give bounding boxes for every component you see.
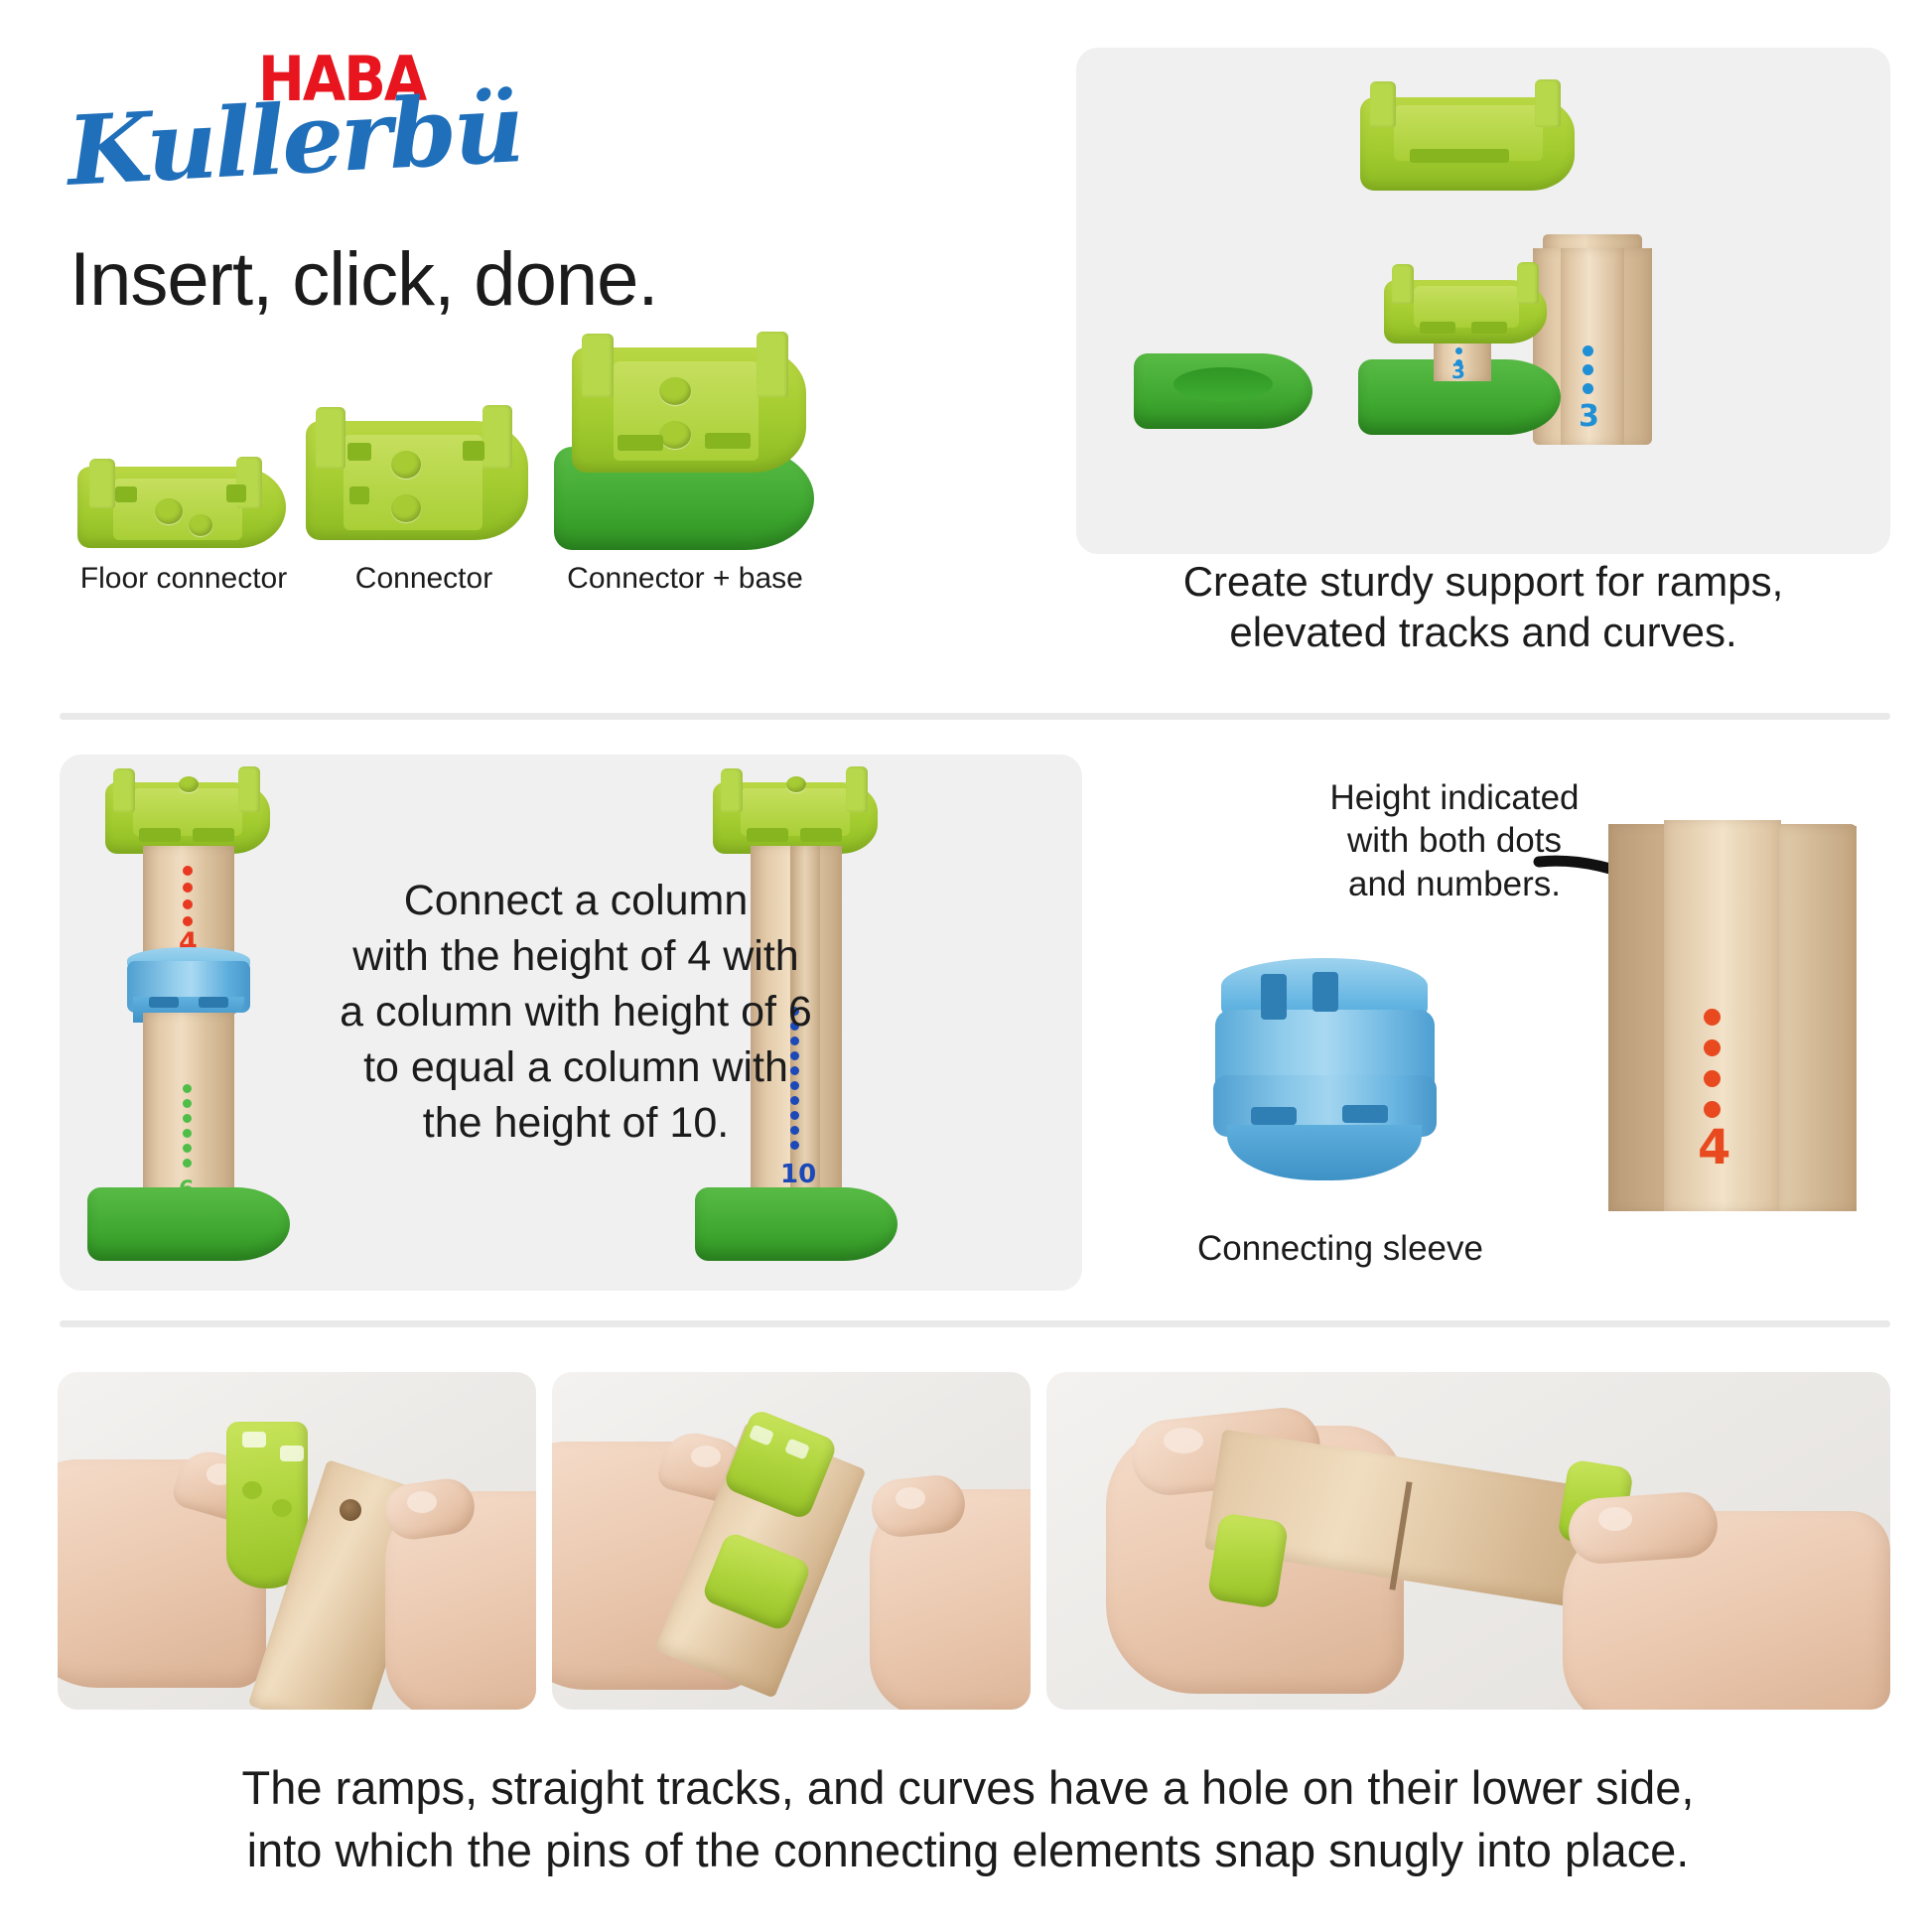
connector-base-figure — [554, 351, 842, 570]
support-panel-caption: Create sturdy support for ramps, elevate… — [1076, 556, 1890, 657]
column-text-line1: Connect a column — [298, 874, 854, 929]
photo-connector-and-track — [58, 1372, 536, 1710]
brand-logo: HABA Kullerbü — [71, 48, 627, 197]
height-note-line1: Height indicated — [1291, 776, 1618, 819]
photo-snap-into-place — [1046, 1372, 1890, 1710]
support-assembled-figure: 3 — [1342, 274, 1590, 435]
stacked-column-figure: 4 6 — [87, 776, 296, 1273]
column-text-line3: a column with height of 6 — [298, 985, 854, 1040]
support-base-recess — [1173, 367, 1273, 401]
connecting-sleeve-label: Connecting sleeve — [1142, 1229, 1539, 1269]
connector-label-connector-base: Connector + base — [526, 562, 844, 596]
column-6-dots — [183, 1084, 192, 1168]
height-column-dots — [1704, 1009, 1721, 1118]
connector-figure — [306, 403, 544, 554]
page-title: Insert, click, done. — [69, 236, 658, 323]
height-column-number: 4 — [1698, 1120, 1730, 1175]
connecting-sleeve-figure — [1213, 958, 1437, 1191]
support-assembled-number: 3 — [1451, 359, 1465, 383]
connector-label-floor: Floor connector — [50, 562, 318, 596]
infographic-page: HABA Kullerbü Insert, click, done. — [0, 0, 1932, 1932]
column-math-text: Connect a column with the height of 4 wi… — [298, 874, 854, 1151]
photo-connector-attached — [552, 1372, 1031, 1710]
footer-caption-line2: into which the pins of the connecting el… — [89, 1820, 1847, 1882]
footer-caption-line1: The ramps, straight tracks, and curves h… — [89, 1757, 1847, 1820]
connector-label-connector: Connector — [290, 562, 558, 596]
footer-caption: The ramps, straight tracks, and curves h… — [89, 1757, 1847, 1882]
divider-top — [60, 713, 1890, 720]
support-connector-piece — [1360, 83, 1588, 195]
column-4-dots — [183, 866, 193, 926]
divider-bottom — [60, 1320, 1890, 1327]
support-caption-line1: Create sturdy support for ramps, — [1076, 556, 1890, 607]
floor-connector-figure — [77, 437, 296, 546]
column-text-line2: with the height of 4 with — [298, 929, 854, 985]
column-text-line5: the height of 10. — [298, 1096, 854, 1152]
support-caption-line2: elevated tracks and curves. — [1076, 607, 1890, 657]
column-10-number: 10 — [780, 1160, 816, 1189]
connector-lineup: Floor connector Connector Connector + ba… — [60, 377, 854, 635]
support-panel: 3 3 — [1076, 48, 1890, 554]
kullerbu-wordmark: Kullerbü — [65, 71, 524, 207]
column-text-line4: to equal a column with — [298, 1040, 854, 1096]
height-wood-column: 4 — [1608, 794, 1857, 1211]
